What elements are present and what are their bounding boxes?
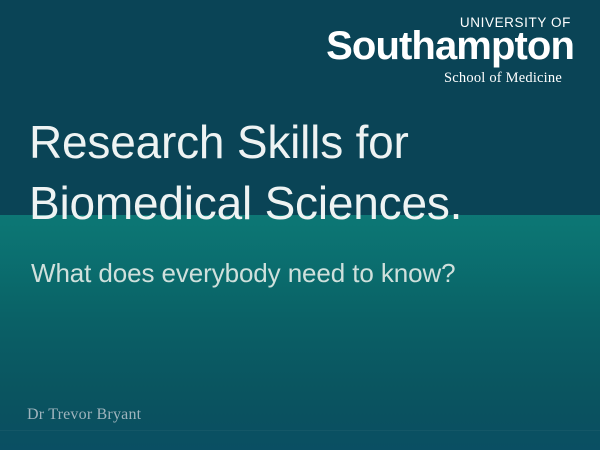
logo-school-label: School of Medicine (326, 71, 562, 86)
author-name: Dr Trevor Bryant (27, 406, 141, 424)
page-title-line-1: Research Skills for (29, 112, 569, 173)
background-hairline-divider (0, 430, 600, 431)
university-logo: UNIVERSITY OF Southampton School of Medi… (326, 16, 574, 86)
page-subtitle: What does everybody need to know? (31, 258, 571, 289)
page-title-line-2: Biomedical Sciences. (29, 173, 569, 234)
title-slide: UNIVERSITY OF Southampton School of Medi… (0, 0, 600, 450)
page-title: Research Skills for Biomedical Sciences. (29, 112, 569, 234)
logo-wordmark: Southampton (326, 28, 574, 65)
